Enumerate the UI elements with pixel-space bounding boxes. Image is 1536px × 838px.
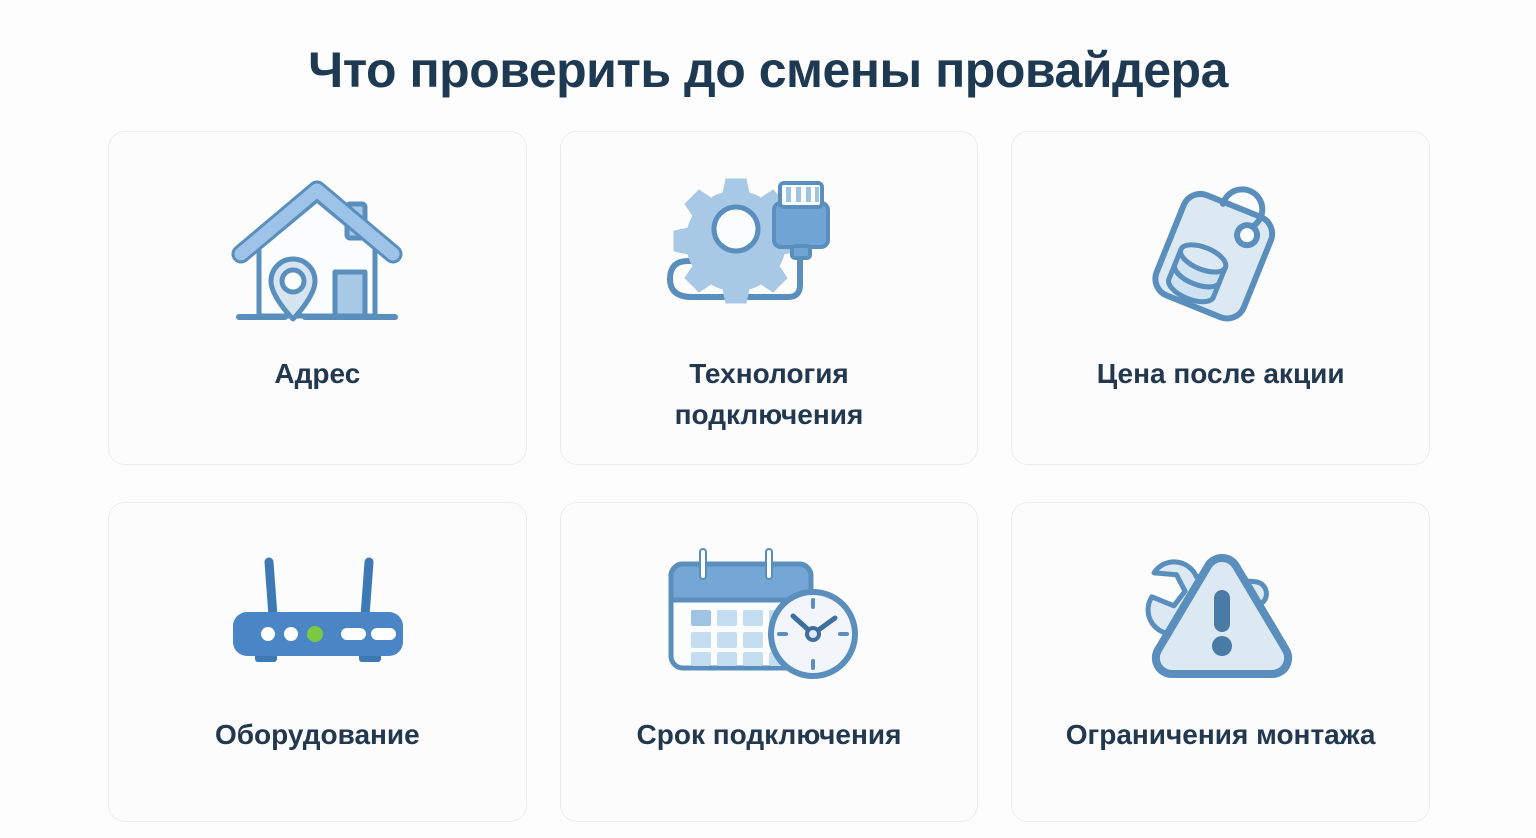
house-pin-icon [227, 168, 407, 338]
card-label: Оборудование [215, 715, 420, 756]
page-title: Что проверить до смены провайдера [0, 40, 1536, 100]
card-label-line-1: Технология [675, 354, 864, 395]
wrench-warning-icon [1126, 537, 1316, 687]
price-tag-coins-icon [1133, 168, 1308, 338]
checklist-card-timeline[interactable]: Срок подключения [560, 502, 979, 822]
infographic-page: Что проверить до смены провайдера [0, 0, 1536, 838]
gear-ethernet-icon [654, 168, 884, 338]
card-label: Цена после акции [1097, 354, 1345, 395]
calendar-clock-icon [661, 537, 876, 687]
router-icon [225, 537, 410, 687]
checklist-grid: Адрес [108, 131, 1430, 822]
checklist-card-technology[interactable]: Технология подключения [560, 131, 979, 465]
checklist-card-address[interactable]: Адрес [108, 131, 527, 465]
card-label: Ограничения монтажа [1066, 715, 1376, 756]
checklist-card-price[interactable]: Цена после акции [1011, 131, 1430, 465]
checklist-card-equipment[interactable]: Оборудование [108, 502, 527, 822]
checklist-card-restrictions[interactable]: Ограничения монтажа [1011, 502, 1430, 822]
card-label: Технология подключения [675, 354, 864, 435]
card-label: Срок подключения [637, 715, 902, 756]
card-label-line-2: подключения [675, 395, 864, 436]
card-label: Адрес [274, 354, 360, 395]
